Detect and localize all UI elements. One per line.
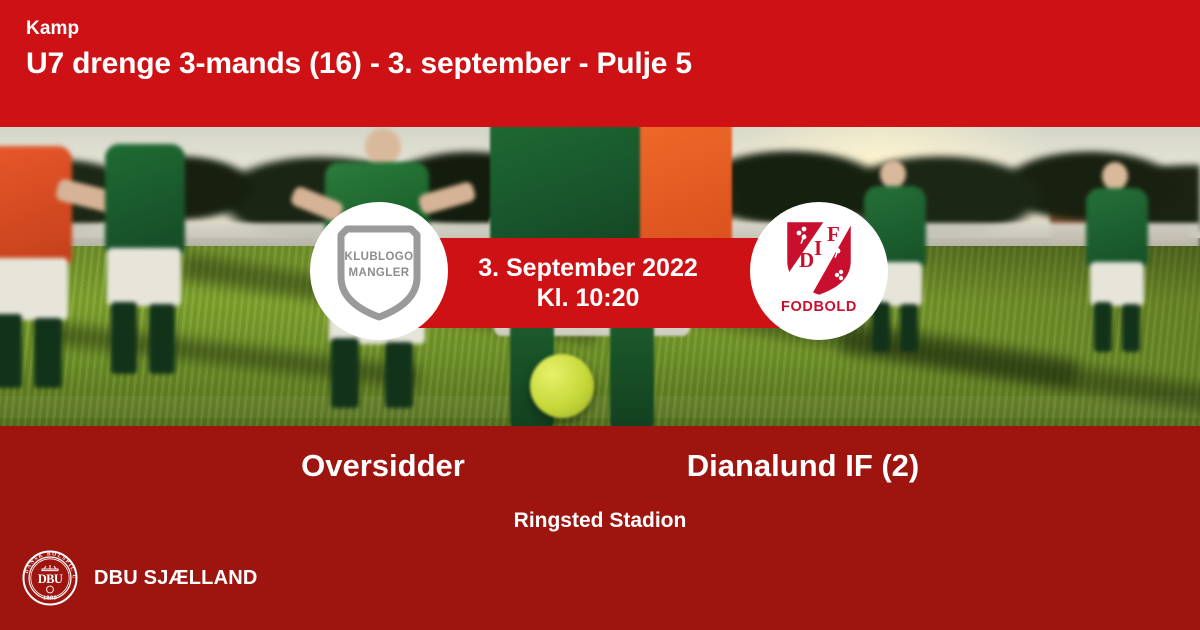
svg-text:F: F (827, 222, 840, 246)
dif-crest-icon: D I F FODBOLD (771, 217, 867, 325)
svg-text:D: D (799, 248, 814, 272)
shield-placeholder-icon: KLUBLOGO MANGLER (333, 219, 425, 323)
home-logo-line-1: KLUBLOGO (333, 249, 425, 265)
home-logo-line-2: MANGLER (333, 265, 425, 281)
away-team-name: Dianalund IF (2) (603, 446, 1003, 486)
svg-text:1889: 1889 (43, 595, 57, 602)
lower-band: Oversidder Dianalund IF (2) Ringsted Sta… (0, 430, 1200, 630)
photo-training-bib (640, 118, 732, 252)
svg-text:I: I (814, 236, 822, 260)
photo-player (0, 146, 106, 386)
match-graphic-card: Kamp U7 drenge 3-mands (16) - 3. septemb… (0, 0, 1200, 630)
away-logo-name: FODBOLD (771, 299, 867, 315)
match-date: 3. September 2022 (478, 253, 698, 283)
photo-top-rule (0, 118, 1200, 127)
page-title: U7 drenge 3-mands (16) - 3. september - … (26, 46, 1200, 82)
photo-player (1072, 162, 1164, 354)
football-icon (530, 354, 594, 418)
photo-player (105, 144, 225, 394)
dbu-seal-icon: DANSK BOLSPIL UNION DBU 1889 (22, 550, 78, 606)
home-team-name: Oversidder (183, 446, 583, 486)
dbu-region-label: DBU SJÆLLAND (94, 567, 258, 590)
svg-text:DBU: DBU (38, 572, 63, 586)
match-venue: Ringsted Stadion (0, 508, 1200, 534)
match-time: Kl. 10:20 (537, 283, 640, 313)
footer: DANSK BOLSPIL UNION DBU 1889 DBU SJÆLLAN… (22, 550, 258, 606)
header-band: Kamp U7 drenge 3-mands (16) - 3. septemb… (0, 0, 1200, 118)
header-kicker: Kamp (26, 18, 1200, 40)
home-club-logo[interactable]: KLUBLOGO MANGLER (310, 202, 448, 340)
photo-sock (610, 314, 654, 430)
photo-bottom-rule (0, 426, 1200, 430)
away-club-logo[interactable]: D I F FODBOLD (750, 202, 888, 340)
